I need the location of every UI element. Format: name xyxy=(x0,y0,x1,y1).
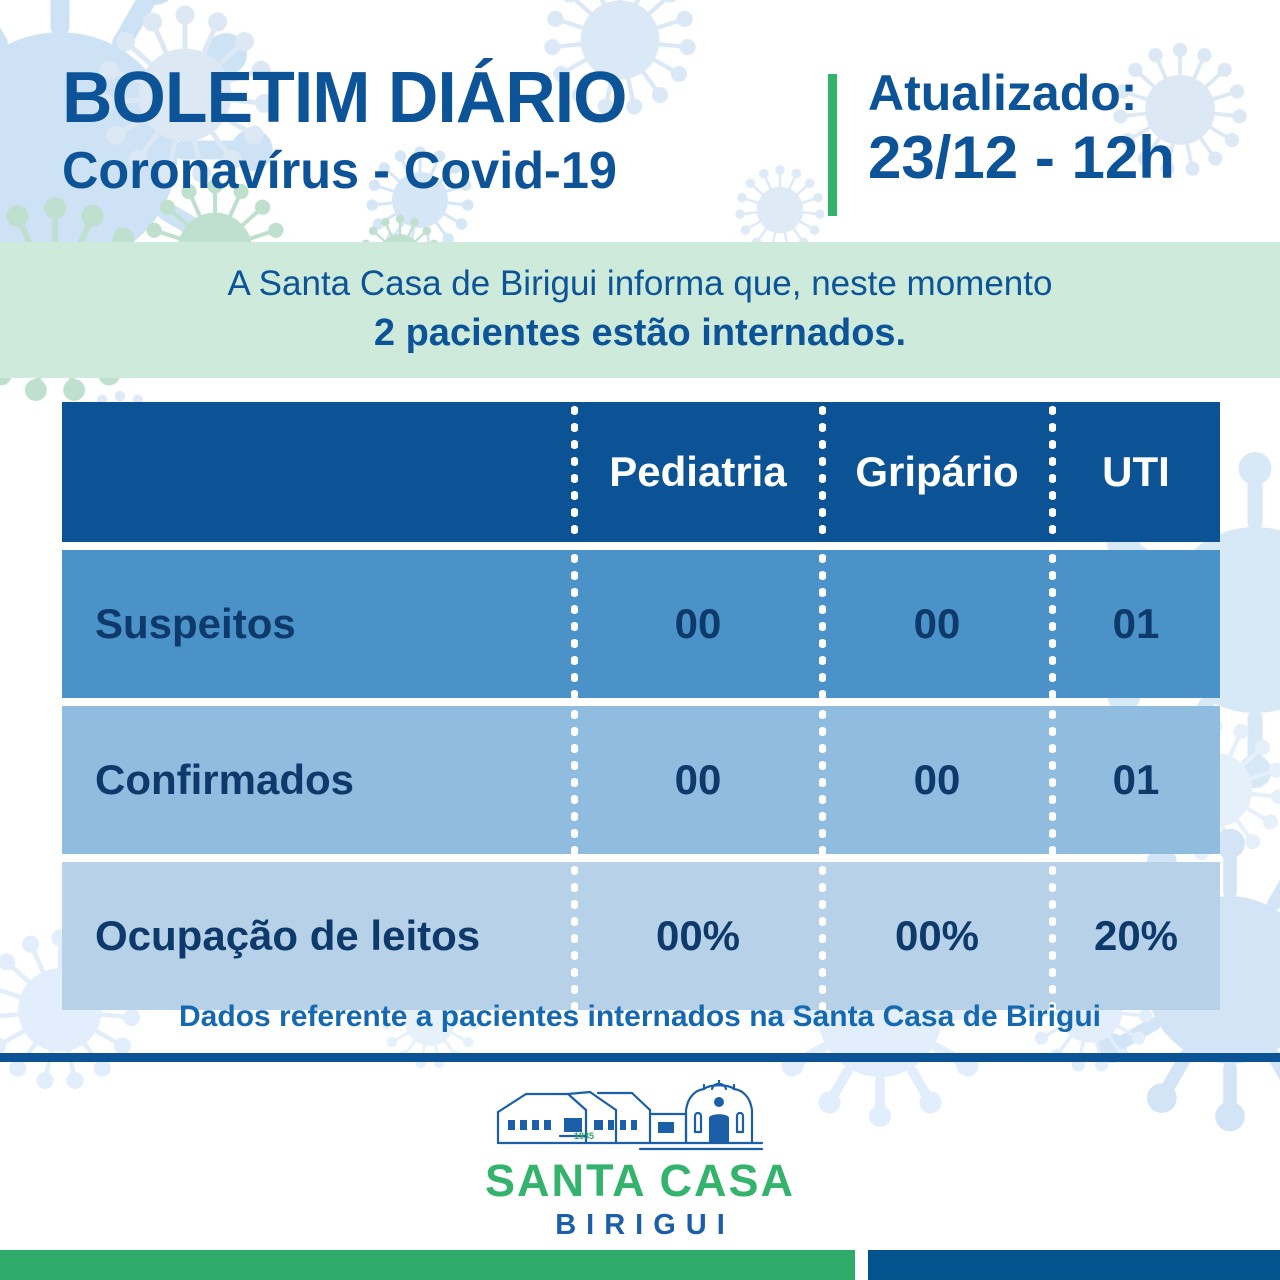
footer-bar-blue xyxy=(868,1250,1280,1280)
info-banner: A Santa Casa de Birigui informa que, nes… xyxy=(0,242,1280,378)
column-separator-dotted xyxy=(1049,706,1056,854)
header-divider xyxy=(828,74,837,216)
cell-confirmados-uti: 01 xyxy=(1052,756,1220,804)
column-separator-dotted xyxy=(571,862,578,1010)
cell-confirmados-gripario: 00 xyxy=(822,756,1052,804)
occupancy-table: Pediatria Gripário UTI Suspeitos 00 00 0… xyxy=(62,402,1220,1010)
cell-ocupacao-gripario: 00% xyxy=(822,912,1052,960)
column-header-gripario: Gripário xyxy=(822,448,1052,496)
table-row: Ocupação de leitos 00% 00% 20% xyxy=(62,862,1220,1010)
column-separator-dotted xyxy=(571,402,578,542)
logo-name-secondary: BIRIGUI xyxy=(545,1211,735,1240)
header-title-block: BOLETIM DIÁRIO Coronavírus - Covid-19 xyxy=(62,62,802,199)
column-header-pediatria: Pediatria xyxy=(574,448,822,496)
column-separator-dotted xyxy=(819,862,826,1010)
logo-area: 1935 SANTA CASA BIRIGUI xyxy=(0,1080,1280,1240)
page-subtitle: Coronavírus - Covid-19 xyxy=(62,144,780,199)
table-row: Confirmados 00 00 01 xyxy=(62,706,1220,854)
column-separator-dotted xyxy=(571,706,578,854)
poster-root: BOLETIM DIÁRIO Coronavírus - Covid-19 At… xyxy=(0,0,1280,1280)
table-header-row: Pediatria Gripário UTI xyxy=(62,402,1220,542)
page-title: BOLETIM DIÁRIO xyxy=(62,62,780,134)
column-separator-dotted xyxy=(819,706,826,854)
header: BOLETIM DIÁRIO Coronavírus - Covid-19 At… xyxy=(0,0,1280,242)
column-separator-dotted xyxy=(1049,402,1056,542)
row-label-suspeitos: Suspeitos xyxy=(62,600,574,648)
info-banner-line-1: A Santa Casa de Birigui informa que, nes… xyxy=(228,263,1053,305)
column-separator-dotted xyxy=(819,402,826,542)
info-banner-line-2: 2 pacientes estão internados. xyxy=(374,311,906,357)
updated-label: Atualizado: xyxy=(868,66,1175,120)
cell-suspeitos-pediatria: 00 xyxy=(574,600,822,648)
cell-ocupacao-pediatria: 00% xyxy=(574,912,822,960)
updated-value: 23/12 - 12h xyxy=(868,126,1175,191)
logo-year: 1935 xyxy=(574,1131,594,1141)
footer-bar-green xyxy=(0,1250,855,1280)
table-row: Suspeitos 00 00 01 xyxy=(62,550,1220,698)
cell-confirmados-pediatria: 00 xyxy=(574,756,822,804)
column-header-uti: UTI xyxy=(1052,448,1220,496)
column-separator-dotted xyxy=(1049,550,1056,698)
header-date-block: Atualizado: 23/12 - 12h xyxy=(868,66,1175,191)
cell-ocupacao-uti: 20% xyxy=(1052,912,1220,960)
santa-casa-building-icon: 1935 xyxy=(490,1080,790,1156)
column-separator-dotted xyxy=(819,550,826,698)
section-divider xyxy=(0,1053,1280,1062)
row-label-ocupacao-de-leitos: Ocupação de leitos xyxy=(62,912,574,960)
logo-name-primary: SANTA CASA xyxy=(485,1158,795,1203)
column-separator-dotted xyxy=(571,550,578,698)
cell-suspeitos-gripario: 00 xyxy=(822,600,1052,648)
table-footnote: Dados referente a pacientes internados n… xyxy=(0,1000,1280,1034)
cell-suspeitos-uti: 01 xyxy=(1052,600,1220,648)
column-separator-dotted xyxy=(1049,862,1056,1010)
row-label-confirmados: Confirmados xyxy=(62,756,574,804)
